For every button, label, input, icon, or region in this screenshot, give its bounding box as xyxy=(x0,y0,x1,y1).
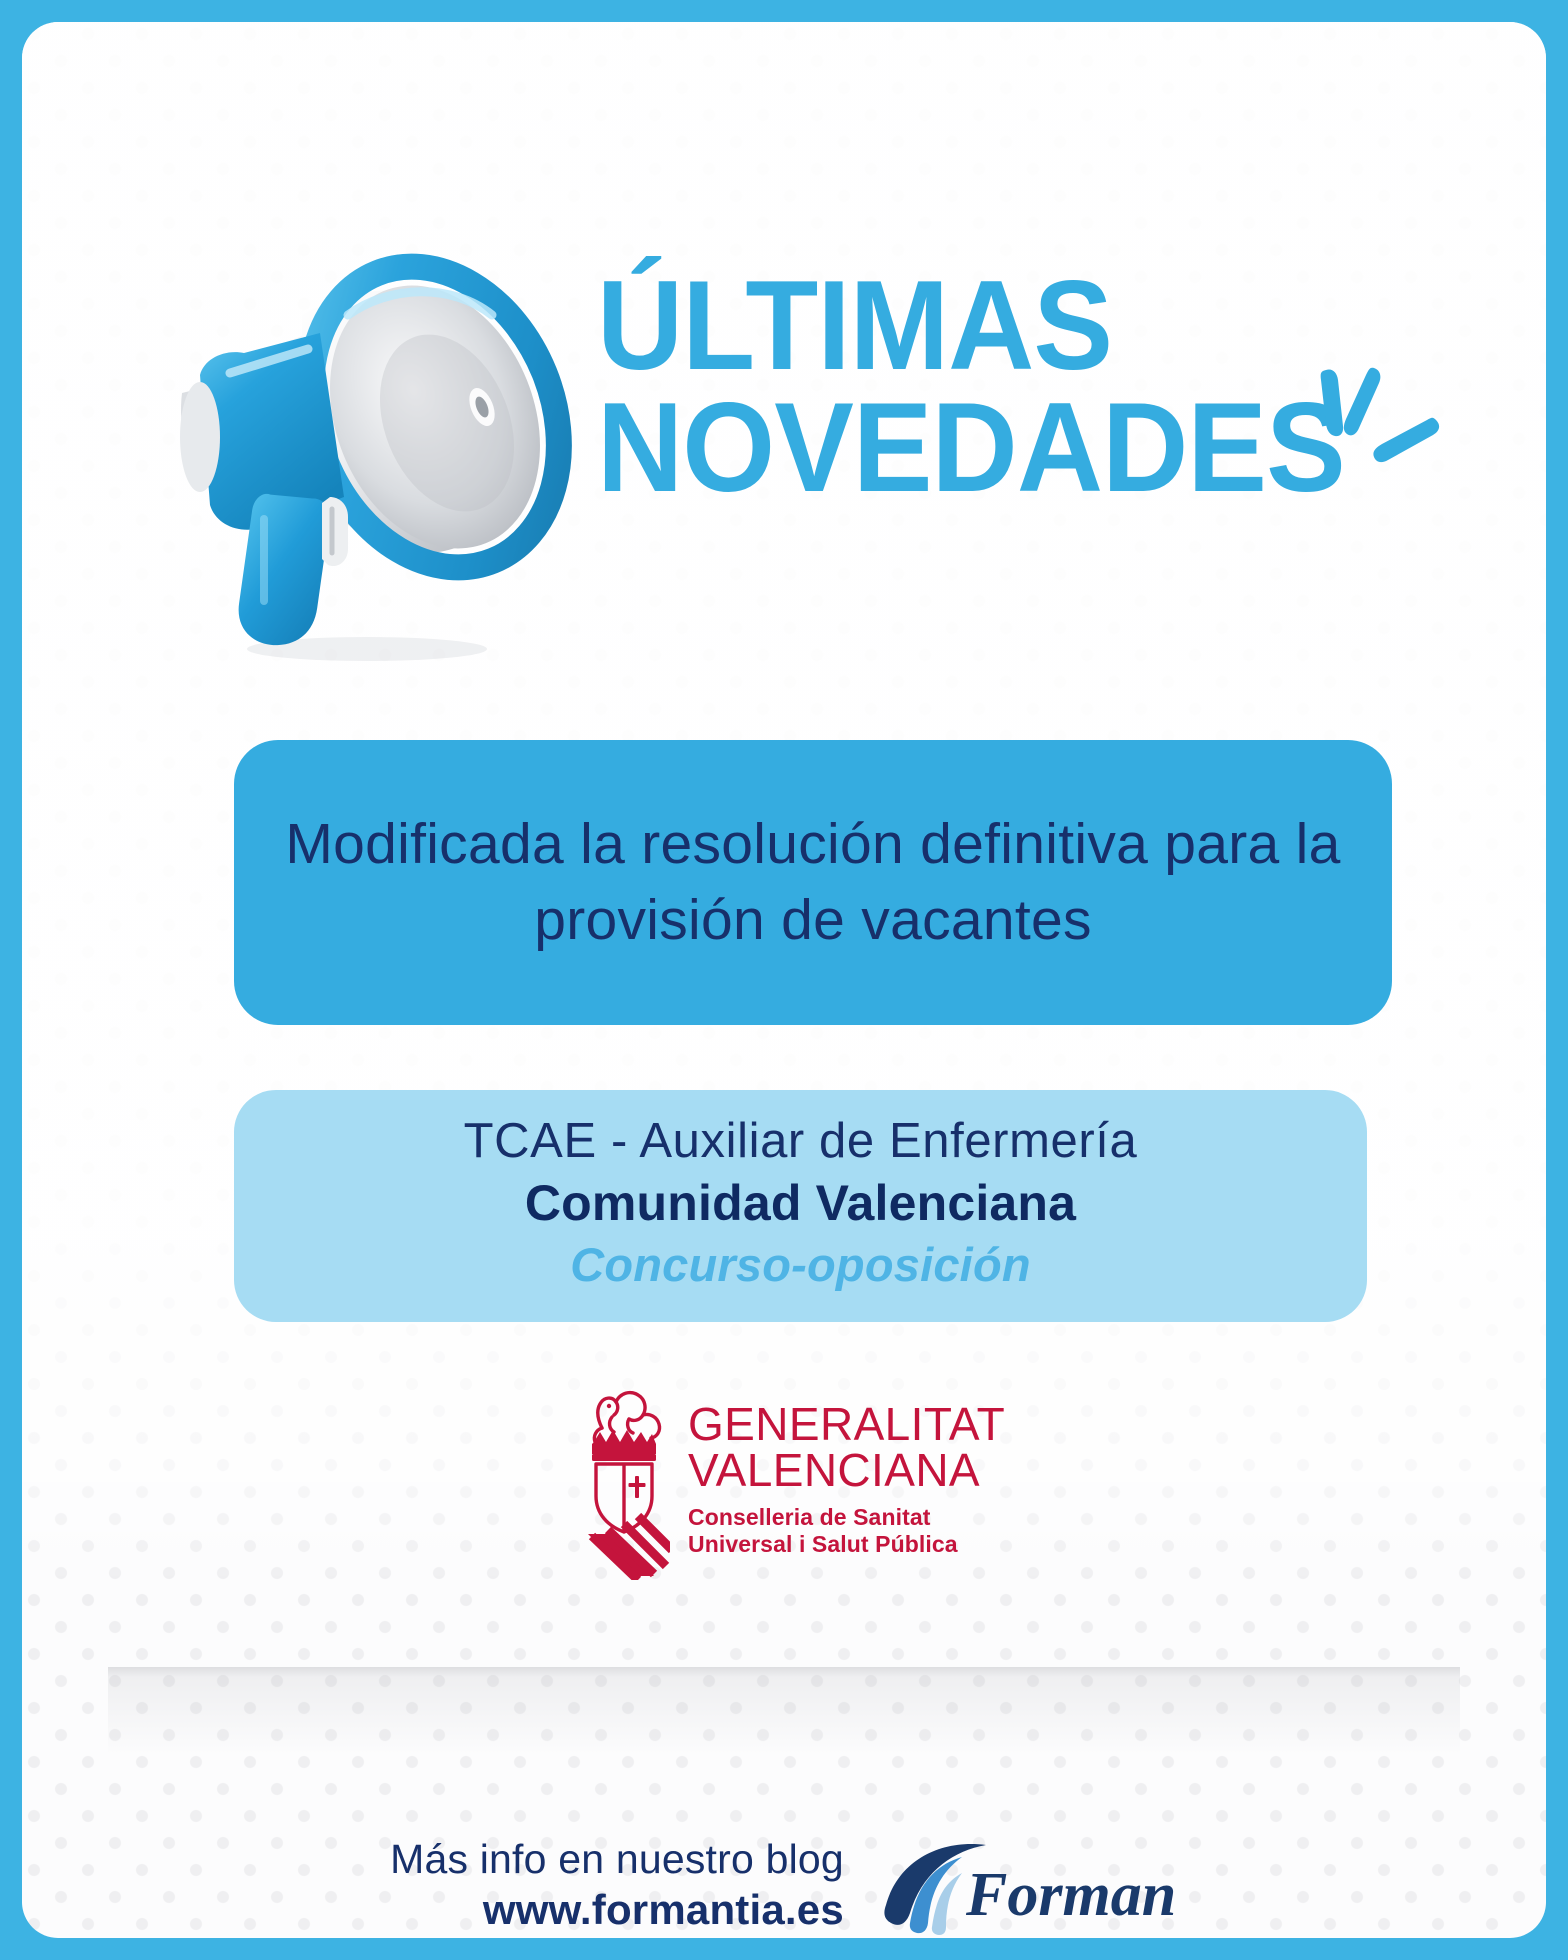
headline-box: Modificada la resolución definitiva para… xyxy=(234,740,1392,1025)
title-line-2: NOVEDADES xyxy=(597,387,1311,509)
headline-text: Modificada la resolución definitiva para… xyxy=(278,807,1348,959)
poster-frame: ÚLTIMAS NOVEDADES Modificada la resoluci… xyxy=(0,0,1568,1960)
generalitat-name-line-1: GENERALITAT xyxy=(688,1402,1005,1448)
conselleria-line-2: Universal i Salut Pública xyxy=(688,1531,1005,1558)
generalitat-name-line-2: VALENCIANA xyxy=(688,1448,1005,1494)
generalitat-text: GENERALITAT VALENCIANA Conselleria de Sa… xyxy=(688,1384,1005,1558)
detail-line-role: TCAE - Auxiliar de Enfermería xyxy=(464,1112,1138,1172)
detail-line-region: Comunidad Valenciana xyxy=(525,1172,1076,1235)
footer-section: Más info en nuestro blog www.formantia.e… xyxy=(22,1815,1546,1938)
megaphone-icon xyxy=(152,197,572,667)
header-section: ÚLTIMAS NOVEDADES xyxy=(22,22,1546,702)
generalitat-crest-icon xyxy=(582,1384,670,1580)
sparkle-lines-icon xyxy=(1312,362,1462,512)
detail-box: TCAE - Auxiliar de Enfermería Comunidad … xyxy=(234,1090,1367,1322)
detail-line-process: Concurso-oposición xyxy=(570,1235,1031,1294)
section-divider-shadow xyxy=(108,1667,1460,1757)
conselleria-line-1: Conselleria de Sanitat xyxy=(688,1504,1005,1531)
title-line-1: ÚLTIMAS xyxy=(597,265,1311,387)
poster-card: ÚLTIMAS NOVEDADES Modificada la resoluci… xyxy=(22,22,1546,1938)
footer-text-block: Más info en nuestro blog www.formantia.e… xyxy=(390,1834,844,1935)
formantia-logo: Formantia xyxy=(878,1831,1178,1938)
generalitat-valenciana-logo: GENERALITAT VALENCIANA Conselleria de Sa… xyxy=(582,1384,1022,1594)
footer-website-url[interactable]: www.formantia.es xyxy=(390,1884,844,1935)
formantia-wordmark: Formantia xyxy=(965,1861,1178,1929)
footer-blog-label: Más info en nuestro blog xyxy=(390,1834,844,1884)
poster-title: ÚLTIMAS NOVEDADES xyxy=(597,265,1357,509)
